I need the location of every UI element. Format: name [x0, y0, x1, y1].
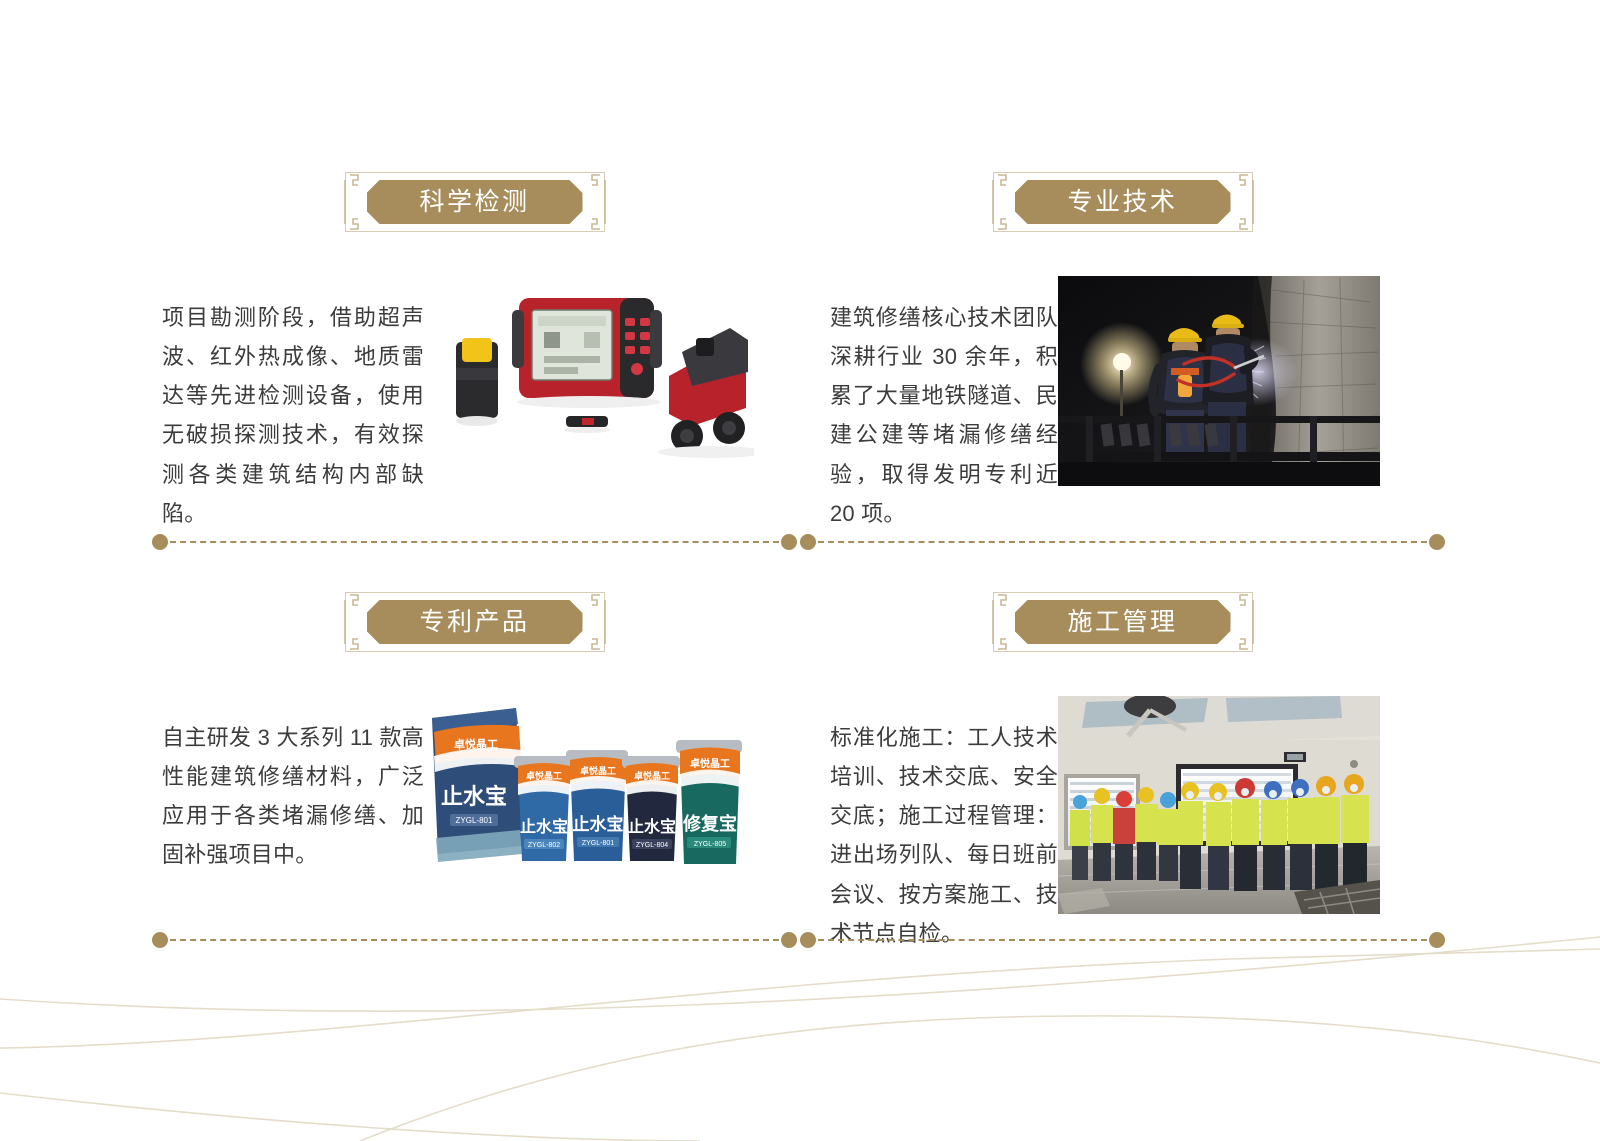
section-construction-management: 施工管理 标准化施工：工人技术培训、技术交底、安全交底；施工过程管理：进出场列队… — [800, 580, 1445, 975]
divider-dot-icon — [800, 534, 816, 550]
svg-text:卓悦晶工: 卓悦晶工 — [526, 770, 562, 781]
section-title: 专利产品 — [419, 610, 529, 635]
divider-dot-icon — [1429, 534, 1445, 550]
detection-equipment-photo — [424, 276, 754, 481]
section-scientific-detection: 科学检测 项目勘测阶段，借助超声波、红外热成像、地质雷达等先进检测设备，使用无破… — [152, 160, 797, 555]
plaque-tablet: 科学检测 — [367, 180, 583, 224]
section-content: 项目勘测阶段，借助超声波、红外热成像、地质雷达等先进检测设备，使用无破损探测技术… — [152, 276, 797, 555]
divider-dot-icon — [152, 932, 168, 948]
corner-ornament-icon — [583, 172, 609, 232]
section-patented-products: 专利产品 自主研发 3 大系列 11 款高性能建筑修缮材料，广泛应用于各类堵漏修… — [152, 580, 797, 897]
section-media — [1058, 696, 1380, 914]
section-professional-technology: 专业技术 建筑修缮核心技术团队深耕行业 30 余年，积累了大量地铁隧道、民建公建… — [800, 160, 1445, 555]
svg-text:卓悦晶工: 卓悦晶工 — [634, 770, 670, 781]
corner-ornament-icon — [341, 172, 367, 232]
svg-text:ZYGL-805: ZYGL-805 — [694, 841, 726, 848]
section-title: 施工管理 — [1067, 610, 1177, 635]
svg-text:止水宝: 止水宝 — [441, 784, 507, 809]
svg-text:止水宝: 止水宝 — [628, 817, 676, 836]
divider-dot-icon — [781, 932, 797, 948]
plaque-tablet: 专业技术 — [1015, 180, 1231, 224]
section-media: 卓悦晶工 止水宝 ZYGL-801 卓悦晶工 — [424, 696, 746, 871]
svg-text:止水宝: 止水宝 — [520, 817, 568, 836]
svg-text:ZYGL-801: ZYGL-801 — [456, 816, 493, 825]
section-divider — [152, 533, 797, 551]
section-header-plaque: 施工管理 — [993, 580, 1253, 664]
divider-dot-icon — [152, 534, 168, 550]
divider-dot-icon — [1429, 932, 1445, 948]
section-content: 建筑修缮核心技术团队深耕行业 30 余年，积累了大量地铁隧道、民建公建等堵漏修缮… — [800, 276, 1445, 555]
section-media — [1058, 276, 1380, 486]
corner-ornament-icon — [1231, 172, 1257, 232]
section-body-text: 项目勘测阶段，借助超声波、红外热成像、地质雷达等先进检测设备，使用无破损探测技术… — [162, 298, 424, 533]
svg-text:ZYGL-804: ZYGL-804 — [636, 842, 668, 849]
worker-lineup-photo — [1058, 696, 1380, 914]
section-media — [424, 276, 754, 481]
plaque-tablet: 专利产品 — [367, 600, 583, 644]
section-body-text: 建筑修缮核心技术团队深耕行业 30 余年，积累了大量地铁隧道、民建公建等堵漏修缮… — [830, 298, 1058, 533]
divider-dashed-line — [170, 939, 779, 941]
section-body-text: 自主研发 3 大系列 11 款高性能建筑修缮材料，广泛应用于各类堵漏修缮、加固补… — [162, 718, 424, 875]
divider-dashed-line — [170, 541, 779, 543]
divider-dot-icon — [781, 534, 797, 550]
svg-text:卓悦晶工: 卓悦晶工 — [690, 757, 730, 770]
svg-text:止水宝: 止水宝 — [573, 814, 624, 834]
section-title: 专业技术 — [1067, 190, 1177, 215]
section-divider — [800, 533, 1445, 551]
svg-text:修复宝: 修复宝 — [682, 813, 737, 834]
section-divider — [800, 931, 1445, 949]
corner-ornament-icon — [1231, 592, 1257, 652]
corner-ornament-icon — [989, 172, 1015, 232]
section-content: 自主研发 3 大系列 11 款高性能建筑修缮材料，广泛应用于各类堵漏修缮、加固补… — [152, 696, 797, 897]
divider-dashed-line — [818, 541, 1427, 543]
corner-ornament-icon — [583, 592, 609, 652]
svg-text:卓悦晶工: 卓悦晶工 — [454, 737, 498, 751]
plaque-tablet: 施工管理 — [1015, 600, 1231, 644]
section-divider — [152, 931, 797, 949]
tunnel-grouting-photo — [1058, 276, 1380, 486]
divider-dashed-line — [818, 939, 1427, 941]
section-header-plaque: 专利产品 — [345, 580, 605, 664]
corner-ornament-icon — [341, 592, 367, 652]
product-lineup-photo: 卓悦晶工 止水宝 ZYGL-801 卓悦晶工 — [424, 696, 746, 871]
corner-ornament-icon — [989, 592, 1015, 652]
section-body-text: 标准化施工：工人技术培训、技术交底、安全交底；施工过程管理：进出场列队、每日班前… — [830, 718, 1058, 953]
section-header-plaque: 专业技术 — [993, 160, 1253, 244]
svg-text:ZYGL-802: ZYGL-802 — [528, 842, 560, 849]
svg-text:卓悦晶工: 卓悦晶工 — [580, 765, 616, 776]
svg-text:ZYGL-801: ZYGL-801 — [582, 840, 614, 847]
content-page: 科学检测 项目勘测阶段，借助超声波、红外热成像、地质雷达等先进检测设备，使用无破… — [0, 0, 1600, 1141]
divider-dot-icon — [800, 932, 816, 948]
section-header-plaque: 科学检测 — [345, 160, 605, 244]
section-title: 科学检测 — [419, 190, 529, 215]
